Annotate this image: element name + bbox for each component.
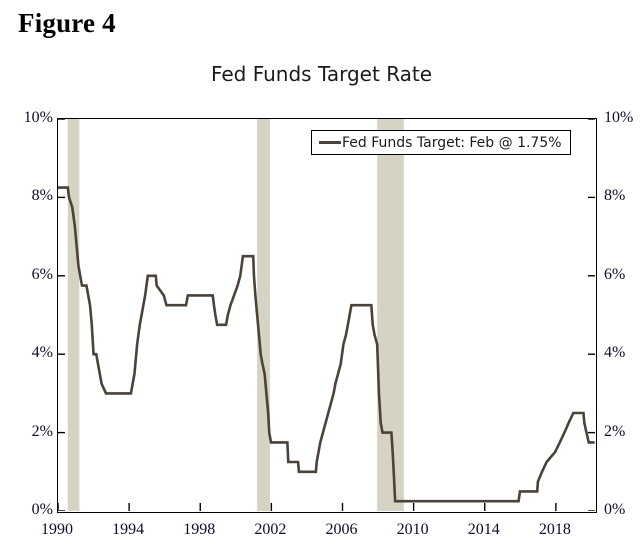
x-axis-tick-label: 2006: [312, 522, 372, 538]
y-axis-right-tick-label: 8%: [604, 188, 625, 204]
x-axis-tick-label: 2014: [454, 522, 514, 538]
y-axis-left-tick-label: 0%: [32, 502, 53, 518]
y-axis-left-tick-label: 10%: [24, 110, 53, 126]
y-axis-left-tick-label: 4%: [32, 345, 53, 361]
y-axis-right-tick-label: 2%: [604, 424, 625, 440]
series-line: [58, 188, 595, 502]
x-axis-tick-label: 1998: [169, 522, 229, 538]
x-axis-tick-label: 1990: [27, 522, 87, 538]
figure-container: Figure 4 Fed Funds Target Rate 0%2%4%6%8…: [0, 0, 643, 544]
chart-plot-svg: [58, 119, 595, 511]
plot-area: [57, 118, 597, 513]
x-axis-tick-label: 2002: [240, 522, 300, 538]
y-axis-right-tick-label: 10%: [604, 110, 633, 126]
x-axis-tick-label: 2018: [525, 522, 585, 538]
x-axis-tick-label: 1994: [98, 522, 158, 538]
y-axis-left-tick-label: 6%: [32, 267, 53, 283]
legend-entry-label: Fed Funds Target: Feb @ 1.75%: [342, 135, 562, 151]
figure-label: Figure 4: [18, 8, 116, 39]
recession-bands: [68, 119, 404, 511]
chart-legend: Fed Funds Target: Feb @ 1.75%: [311, 130, 571, 155]
y-axis-left-tick-label: 8%: [32, 188, 53, 204]
y-axis-right-tick-label: 6%: [604, 267, 625, 283]
recession-band: [257, 119, 270, 511]
axis-ticks: [58, 119, 595, 511]
chart-title: Fed Funds Target Rate: [0, 62, 643, 86]
x-axis-tick-label: 2010: [383, 522, 443, 538]
y-axis-right-tick-label: 0%: [604, 502, 625, 518]
y-axis-left-tick-label: 2%: [32, 424, 53, 440]
recession-band: [377, 119, 404, 511]
data-series-lines: [58, 188, 595, 502]
legend-line-swatch-icon: [319, 141, 341, 144]
y-axis-right-tick-label: 4%: [604, 345, 625, 361]
recession-band: [68, 119, 80, 511]
